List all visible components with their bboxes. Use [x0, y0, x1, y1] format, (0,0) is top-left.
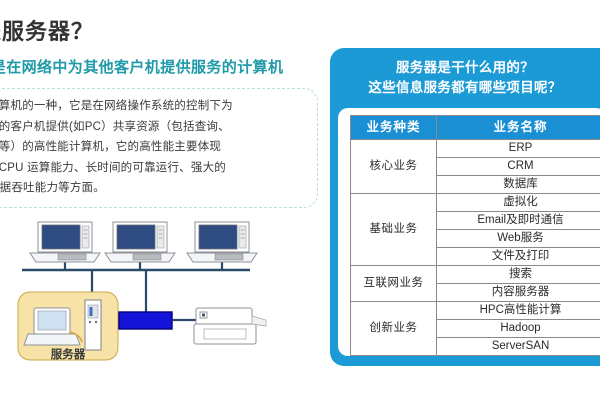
topology-svg: 服务器: [0, 212, 330, 397]
description-line-2: 络环境里的客户机提供(如PC）共享资源（包括查询、: [0, 117, 314, 138]
table-body: 核心业务 ERP CRM 数据库 基础业务 虚拟化 Em: [351, 140, 600, 356]
service-cell: CRM: [437, 158, 600, 176]
table-row: 核心业务 ERP: [351, 140, 600, 158]
table-row: 基础业务 虚拟化: [351, 194, 600, 212]
category-cell-basic: 基础业务: [351, 194, 437, 266]
description-line-1: 务器是计算机的一种，它是在网络操作系统的控制下为: [0, 96, 314, 117]
description-text: 务器是计算机的一种，它是在网络操作系统的控制下为 络环境里的客户机提供(如PC）…: [0, 96, 314, 199]
services-table-container: 业务种类 业务名称 核心业务 ERP CRM 数据库: [338, 108, 600, 356]
category-cell-internet: 互联网业务: [351, 266, 437, 302]
description-line-4: 高速度的CPU 运算能力、长时间的可靠运行、强大的: [0, 158, 314, 179]
network-topology-diagram: 服务器: [0, 212, 330, 397]
description-line-3: 储、计算等）的高性能计算机，它的高性能主要体现: [0, 137, 314, 158]
server-tower-icon: [85, 300, 101, 350]
subtitle-definition: 器就是在网络中为其他客户机提供服务的计算机: [0, 56, 283, 77]
service-cell: 内容服务器: [437, 284, 600, 302]
left-content-panel: 么是服务器？ 器就是在网络中为其他客户机提供服务的计算机 务器是计算机的一种，它…: [0, 0, 330, 400]
service-cell: HPC高性能计算: [437, 302, 600, 320]
server-label: 服务器: [51, 347, 86, 361]
service-cell: Web服务: [437, 230, 600, 248]
category-cell-innovation: 创新业务: [351, 302, 437, 356]
table-row: 创新业务 HPC高性能计算: [351, 302, 600, 320]
services-title-line-2: 这些信息服务都有哪些项目呢？: [330, 78, 600, 98]
printer-icon: [194, 308, 266, 344]
service-cell: Hadoop: [437, 320, 600, 338]
service-cell: Email及即时通信: [437, 212, 600, 230]
client-pc-3-icon: [187, 222, 257, 262]
table-row: 互联网业务 搜索: [351, 266, 600, 284]
description-line-5: O 外部数据吞吐能力等方面。: [0, 178, 314, 199]
client-pc-2-icon: [105, 222, 175, 262]
page-root: 么是服务器？ 器就是在网络中为其他客户机提供服务的计算机 务器是计算机的一种，它…: [0, 0, 600, 400]
service-cell: 搜索: [437, 266, 600, 284]
service-cell: ServerSAN: [437, 338, 600, 356]
category-cell-core: 核心业务: [351, 140, 437, 194]
service-cell: 虚拟化: [437, 194, 600, 212]
page-title: 么是服务器？: [0, 14, 94, 46]
column-header-name: 业务名称: [437, 116, 600, 140]
column-header-category: 业务种类: [351, 116, 437, 140]
client-pc-1-icon: [30, 222, 100, 262]
table-header-row: 业务种类 业务名称: [351, 116, 600, 140]
services-panel-title: 服务器是干什么用的？ 这些信息服务都有哪些项目呢？: [330, 58, 600, 98]
services-title-line-1: 服务器是干什么用的？: [330, 58, 600, 78]
service-cell: 文件及打印: [437, 248, 600, 266]
service-cell: ERP: [437, 140, 600, 158]
service-cell: 数据库: [437, 176, 600, 194]
services-panel: 服务器是干什么用的？ 这些信息服务都有哪些项目呢？ 业务种类 业务名称 核心业务…: [330, 48, 600, 366]
network-switch-icon: [119, 312, 172, 329]
business-services-table: 业务种类 业务名称 核心业务 ERP CRM 数据库: [350, 115, 600, 356]
